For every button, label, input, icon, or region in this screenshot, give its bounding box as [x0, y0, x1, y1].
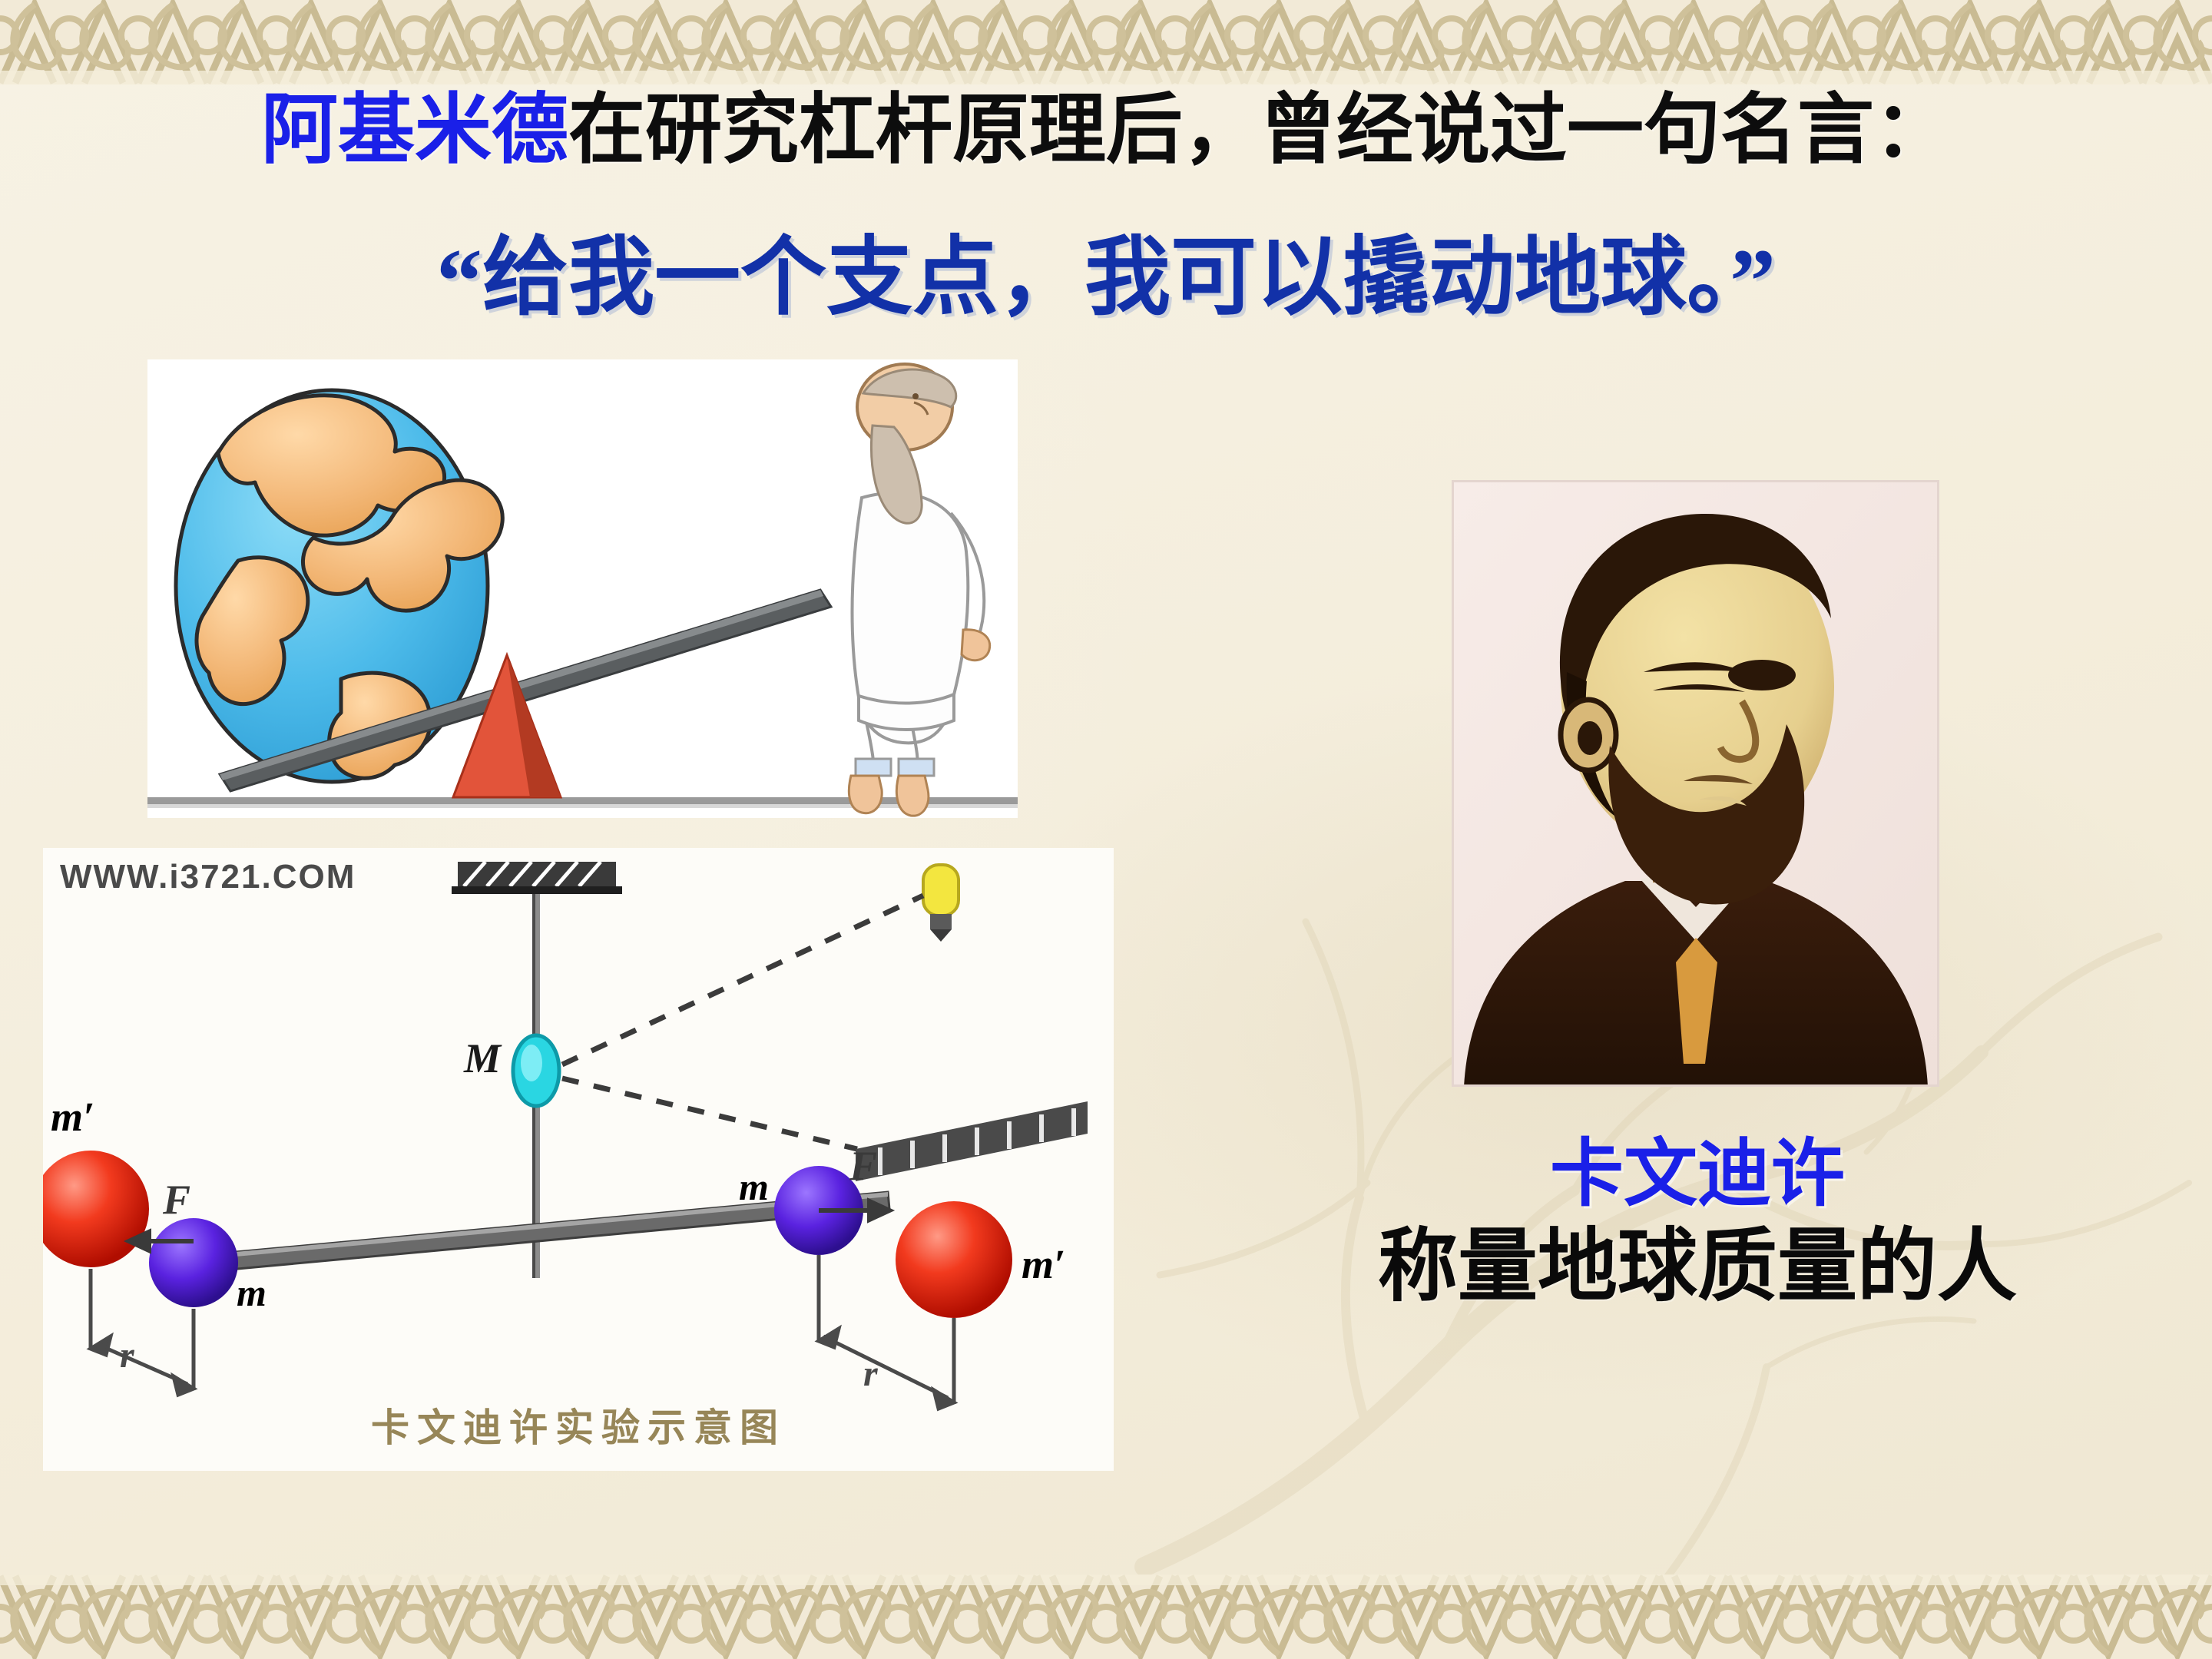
ornament-border-bottom [0, 1575, 2212, 1659]
force-right-label: F [849, 1143, 877, 1189]
cavendish-name: 卡文迪许 [1244, 1129, 2151, 1219]
large-mass-right [896, 1201, 1012, 1318]
portrait-ear [1561, 700, 1616, 770]
archimedes-name: 阿基米德 [261, 88, 568, 173]
cavendish-description: 称量地球质量的人 [1244, 1219, 2151, 1316]
headline-rest: 在研究杠杆原理后，曾经说过一句名言： [568, 88, 1951, 173]
quote-open-mark: “ [436, 230, 482, 332]
mirror-label: M [463, 1035, 502, 1081]
large-mass-left-label: m′ [51, 1094, 94, 1140]
distance-left-label: r [120, 1335, 135, 1376]
right-caption-block: 卡文迪许 称量地球质量的人 [1244, 1129, 2151, 1316]
small-mass-right-label: m [739, 1165, 769, 1208]
cavendish-experiment-diagram: WWW.i3721.COM M [43, 848, 1114, 1471]
archimedes-quote: “给我一个支点，我可以撬动地球。” [0, 230, 2212, 332]
diagram-caption: 卡文迪许实验示意图 [371, 1406, 786, 1450]
quote-close-mark: ” [1730, 230, 1776, 332]
slide-canvas: 阿基米德在研究杠杆原理后，曾经说过一句名言： “给我一个支点，我可以撬动地球。” [0, 0, 2212, 1659]
ornament-border-top [0, 0, 2212, 84]
distance-right-label: r [863, 1353, 879, 1394]
ceiling-support [452, 862, 622, 894]
torsion-mirror [513, 1035, 559, 1106]
quote-text: 给我一个支点，我可以撬动地球。 [482, 227, 1730, 327]
cavendish-portrait [1452, 480, 1939, 1087]
lever-illustration [147, 359, 1018, 818]
small-mass-left-label: m [237, 1271, 267, 1314]
force-left-label: F [162, 1177, 190, 1223]
diagram-watermark: WWW.i3721.COM [60, 858, 356, 896]
headline: 阿基米德在研究杠杆原理后，曾经说过一句名言： [0, 86, 2212, 174]
large-mass-right-label: m′ [1022, 1241, 1065, 1287]
small-mass-left [149, 1218, 238, 1307]
